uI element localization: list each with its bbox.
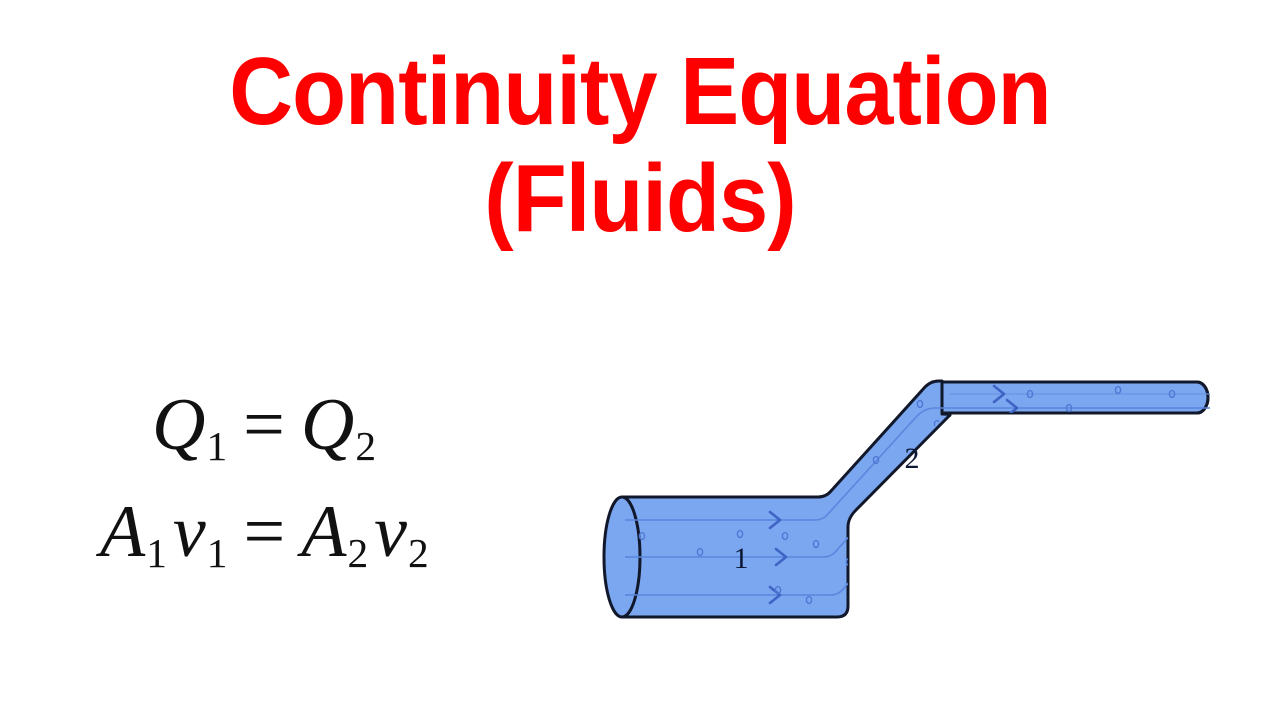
pipe-diagram: 1 2 [580,350,1260,650]
eq2-rhs-area-symbol: A [301,491,346,573]
arrow-chevron [994,428,1004,444]
section-2-label: 2 [905,442,920,475]
title-line-2: (Fluids) [51,149,1229,250]
eq2-lhs-velocity-subscript: 1 [206,530,228,576]
eq1-lhs-symbol: Q [152,384,205,466]
eq2-operator: = [228,491,302,573]
eq1-operator: = [227,384,301,466]
eq2-rhs-area-subscript: 2 [346,530,368,576]
bubble [860,599,865,606]
pipe-section-1-wide-and-taper [622,381,950,617]
equation-area-velocity: A1v1=A2v2 [100,495,570,574]
pipe-body-group [604,381,1208,617]
section-1-label: 1 [734,542,749,575]
eq1-rhs-subscript: 2 [354,423,376,469]
pipe-diagram-svg: 1 2 [580,350,1260,650]
slide-canvas: Continuity Equation (Fluids) Q1=Q2 A1v1=… [0,0,1280,720]
eq1-lhs-subscript: 1 [205,423,227,469]
bubble [971,427,976,434]
title-line-1: Continuity Equation [51,42,1229,143]
eq2-lhs-area-subscript: 1 [145,530,167,576]
eq2-rhs-velocity-symbol: v [374,491,407,573]
equation-flow-rate: Q1=Q2 [100,388,570,467]
equation-block: Q1=Q2 A1v1=A2v2 [100,388,570,574]
eq1-rhs-symbol: Q [301,384,354,466]
eq2-lhs-area-symbol: A [100,491,145,573]
page-title: Continuity Equation (Fluids) [0,42,1280,250]
eq2-lhs-velocity-symbol: v [173,491,206,573]
eq2-rhs-velocity-subscript: 2 [407,530,429,576]
